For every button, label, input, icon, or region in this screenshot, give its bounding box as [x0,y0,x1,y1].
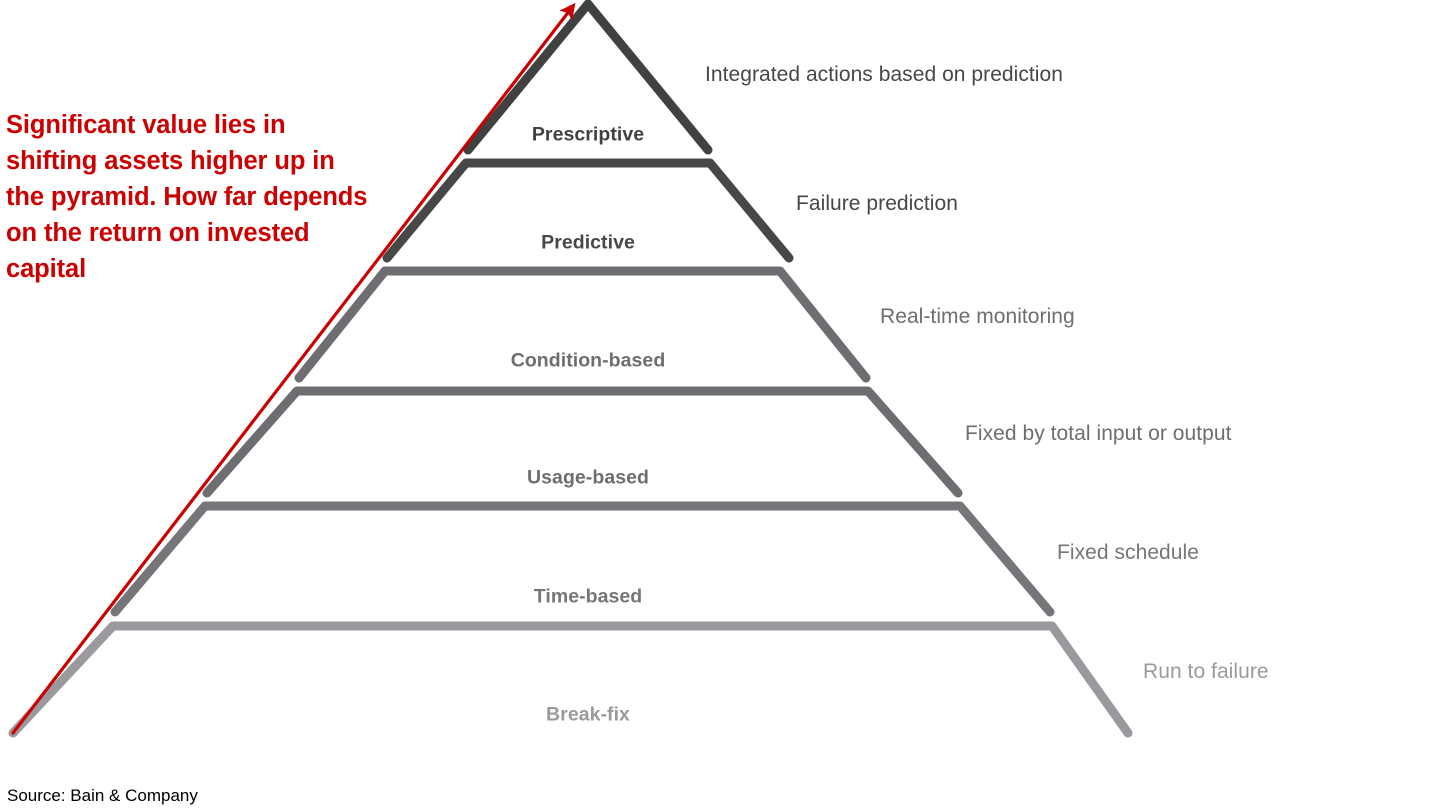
tier-description-break-fix: Run to failure [1143,660,1269,684]
tier-label-condition-based: Condition-based [511,350,666,373]
tier-description-usage-based: Fixed by total input or output [965,422,1232,446]
tier-label-predictive: Predictive [541,232,635,255]
tier-label-time-based: Time-based [534,586,643,609]
tier-label-prescriptive: Prescriptive [532,124,644,147]
tier-label-break-fix: Break-fix [546,704,630,727]
diagram-canvas: Significant value lies in shifting asset… [0,0,1440,810]
tier-description-predictive: Failure prediction [796,192,958,216]
source-caption: Source: Bain & Company [7,786,198,806]
tier-label-usage-based: Usage-based [527,467,649,490]
tier-description-prescriptive: Integrated actions based on prediction [705,63,1063,87]
callout-text: Significant value lies in shifting asset… [6,108,378,288]
tier-description-condition-based: Real-time monitoring [880,305,1075,329]
tier-description-time-based: Fixed schedule [1057,541,1199,565]
